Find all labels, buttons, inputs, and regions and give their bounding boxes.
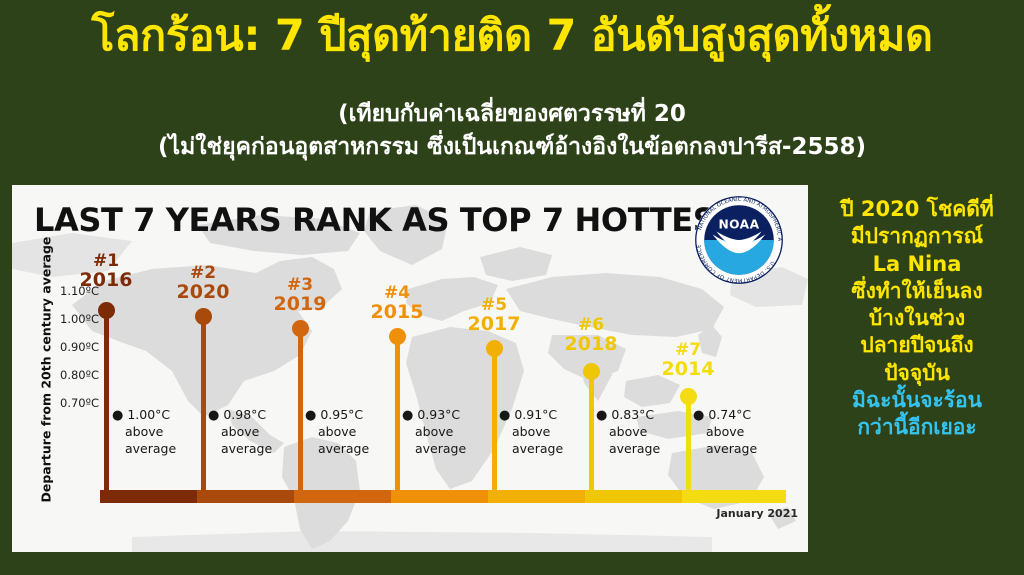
stem-6 <box>589 372 594 493</box>
value-label-7: ● 0.74°C above average <box>693 407 789 457</box>
value-label-2: ● 0.98°C above average <box>208 407 304 457</box>
rank-label-6: #6 2018 <box>543 317 639 355</box>
note-line-5: บ้างในช่วง <box>812 305 1022 332</box>
swatch-4 <box>391 490 489 503</box>
rank-label-2: #2 2020 <box>155 265 251 303</box>
value-bullet-1: ● <box>112 408 123 423</box>
value-bullet-7: ● <box>693 408 704 423</box>
note-line-4: ซึ่งทำให้เย็นลง <box>812 278 1022 305</box>
note-line-6: ปลายปีจนถึง <box>812 332 1022 359</box>
svg-text:NOAA: NOAA <box>718 218 759 232</box>
stem-2 <box>201 317 206 493</box>
swatch-3 <box>294 490 392 503</box>
side-note: ปี 2020 โชคดีที่ มีปรากฏการณ์ La Nina ซึ… <box>812 196 1022 442</box>
stem-4 <box>395 337 400 493</box>
note-line-2: มีปรากฏการณ์ <box>812 223 1022 250</box>
subtitle-line-2: (ไม่ใช่ยุคก่อนอุตสาหกรรม ซึ่งเป็นเกณฑ์อ้… <box>0 133 1024 161</box>
value-label-5: ● 0.91°C above average <box>499 407 595 457</box>
note-line-1: ปี 2020 โชคดีที่ <box>812 196 1022 223</box>
rank-label-1: #1 2016 <box>58 253 154 291</box>
rank-label-7: #7 2014 <box>640 342 736 380</box>
swatch-2 <box>197 490 295 503</box>
stem-1 <box>104 311 109 493</box>
y-axis-label: Departure from 20th century average <box>39 283 54 503</box>
value-label-6: ● 0.83°C above average <box>596 407 692 457</box>
swatch-1 <box>100 490 198 503</box>
rank-label-4: #4 2015 <box>349 285 445 323</box>
chart-title: LAST 7 YEARS RANK AS TOP 7 HOTTEST <box>34 201 737 239</box>
swatch-6 <box>585 490 683 503</box>
rank-label-3: #3 2019 <box>252 277 348 315</box>
value-bullet-2: ● <box>208 408 219 423</box>
stem-7 <box>686 397 691 493</box>
note-line-8: มิฉะนั้นจะร้อน <box>812 387 1022 414</box>
noaa-logo: NOAA NATIONAL OCEANIC AND ATMOSPHERIC AD… <box>692 193 786 287</box>
chart-panel: LAST 7 YEARS RANK AS TOP 7 HOTTEST NOAA … <box>12 185 808 552</box>
date-stamp: January 2021 <box>658 507 798 520</box>
swatch-7 <box>682 490 786 503</box>
value-label-4: ● 0.93°C above average <box>402 407 498 457</box>
stem-3 <box>298 329 303 493</box>
value-bullet-4: ● <box>402 408 413 423</box>
swatch-5 <box>488 490 586 503</box>
note-line-7: ปัจจุบัน <box>812 360 1022 387</box>
subtitle-line-1: (เทียบกับค่าเฉลี่ยของศตวรรษที่ 20 <box>0 100 1024 128</box>
note-line-9: กว่านี้อีกเยอะ <box>812 414 1022 441</box>
value-label-3: ● 0.95°C above average <box>305 407 401 457</box>
header-banner: โลกร้อน: 7 ปีสุดท้ายติด 7 อันดับสูงสุดทั… <box>0 0 1024 178</box>
value-bullet-6: ● <box>596 408 607 423</box>
value-label-1: ● 1.00°C above average <box>112 407 208 457</box>
page-title: โลกร้อน: 7 ปีสุดท้ายติด 7 อันดับสูงสุดทั… <box>0 14 1024 59</box>
note-line-3: La Nina <box>812 251 1022 278</box>
stem-5 <box>492 349 497 493</box>
rank-label-5: #5 2017 <box>446 297 542 335</box>
value-bullet-5: ● <box>499 408 510 423</box>
value-bullet-3: ● <box>305 408 316 423</box>
